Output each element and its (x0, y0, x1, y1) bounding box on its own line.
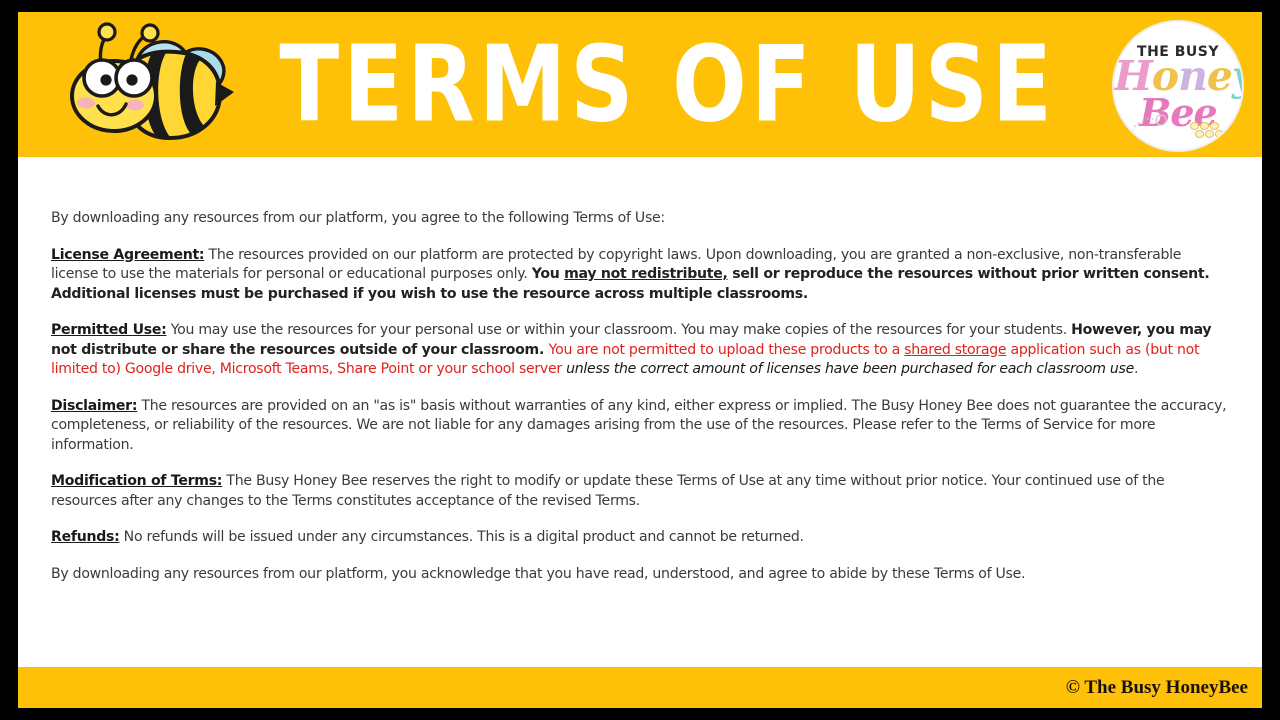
section-label-modification: Modification of Terms: (51, 473, 222, 489)
copyright-text: © The Busy HoneyBee (1066, 677, 1248, 699)
bee-mascot-icon (58, 22, 238, 150)
terms-content: By downloading any resources from our pl… (51, 209, 1227, 601)
section-label-disclaimer: Disclaimer: (51, 398, 137, 414)
section-red-permitted-1: You are not permitted to upload these pr… (549, 342, 905, 358)
section-modification-of-terms: Modification of Terms: The Busy Honey Be… (51, 472, 1227, 511)
slide-page: TERMS OF USE THE BUSY Honey Bee (0, 0, 1280, 720)
section-italic-permitted: unless the correct amount of licenses ha… (566, 361, 1134, 377)
section-label-permitted: Permitted Use: (51, 322, 167, 338)
section-label-refunds: Refunds: (51, 529, 119, 545)
section-text-permitted-1: You may use the resources for your perso… (167, 322, 1072, 338)
logo-swirl-decoration (1128, 112, 1170, 138)
section-license-agreement: License Agreement: The resources provide… (51, 246, 1227, 305)
intro-paragraph: By downloading any resources from our pl… (51, 209, 1227, 229)
section-permitted-tail: . (1134, 361, 1138, 377)
section-label-license: License Agreement: (51, 247, 204, 263)
link-may-not-redistribute[interactable]: may not redistribute, (564, 266, 727, 282)
terms-body: By downloading any resources from our pl… (18, 157, 1262, 667)
section-bold-license-1: You (532, 266, 564, 282)
link-shared-storage[interactable]: shared storage (904, 342, 1006, 358)
section-disclaimer: Disclaimer: The resources are provided o… (51, 397, 1227, 456)
footer-banner: © The Busy HoneyBee (18, 667, 1262, 708)
closing-paragraph: By downloading any resources from our pl… (51, 565, 1227, 585)
header-banner: TERMS OF USE THE BUSY Honey Bee (18, 12, 1262, 157)
section-refunds: Refunds: No refunds will be issued under… (51, 528, 1227, 548)
page-title: TERMS OF USE (268, 12, 1068, 157)
brand-logo: THE BUSY Honey Bee (1112, 20, 1244, 152)
section-text-refunds: No refunds will be issued under any circ… (119, 529, 803, 545)
logo-circle: THE BUSY Honey Bee (1112, 20, 1244, 152)
page-title-text: TERMS OF USE (280, 32, 1057, 137)
logo-honeycomb-dots (1190, 122, 1226, 140)
section-permitted-use: Permitted Use: You may use the resources… (51, 321, 1227, 380)
section-text-disclaimer: The resources are provided on an "as is"… (51, 398, 1226, 453)
